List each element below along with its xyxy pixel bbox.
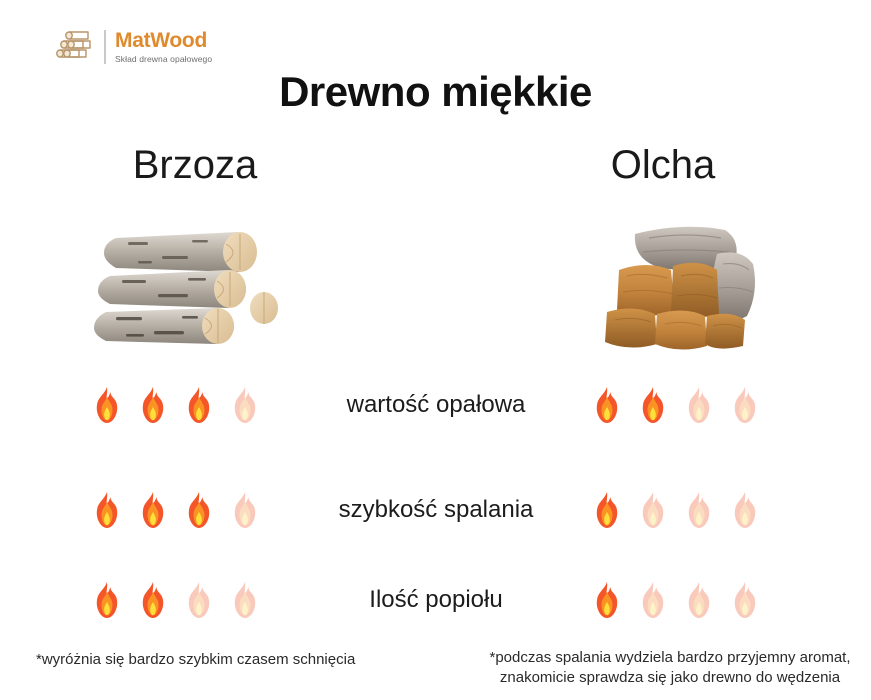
flame-icon-filled <box>592 386 622 424</box>
column-heading-brzoza: Brzoza <box>45 143 345 188</box>
logo-wordmark: MatWood Skład drewna opałowego <box>115 30 212 63</box>
footnote-brzoza: *wyróżnia się bardzo szybkim czasem schn… <box>36 650 436 670</box>
flame-icon-empty <box>230 491 260 529</box>
brand-logo: MatWood Skład drewna opałowego <box>55 28 212 66</box>
infographic-page: MatWood Skład drewna opałowego Drewno mi… <box>0 0 871 700</box>
flame-icon-empty <box>230 581 260 619</box>
flame-icon-filled <box>92 491 122 529</box>
rating-olcha-2 <box>592 491 760 529</box>
criterion-label-3: Ilość popiołu <box>286 586 586 614</box>
page-title: Drewno miękkie <box>0 68 871 116</box>
flame-icon-filled <box>184 386 214 424</box>
flame-icon-empty <box>638 491 668 529</box>
brand-tagline: Skład drewna opałowego <box>115 54 212 64</box>
flame-icon-empty <box>730 491 760 529</box>
flame-icon-empty <box>730 386 760 424</box>
rating-olcha-3 <box>592 581 760 619</box>
brand-name: MatWood <box>115 30 212 52</box>
flame-icon-filled <box>638 386 668 424</box>
footnote-olcha: *podczas spalania wydziela bardzo przyje… <box>480 648 860 689</box>
flame-icon-empty <box>684 581 714 619</box>
flame-icon-empty <box>684 386 714 424</box>
flame-icon-filled <box>592 581 622 619</box>
flame-icon-filled <box>138 386 168 424</box>
flame-icon-filled <box>184 491 214 529</box>
rating-brzoza-1 <box>92 386 260 424</box>
flame-icon-empty <box>638 581 668 619</box>
rating-row-3: Ilość popiołu <box>0 576 871 624</box>
logo-divider <box>104 30 106 64</box>
flame-icon-filled <box>92 386 122 424</box>
rating-row-2: szybkość spalania <box>0 486 871 534</box>
flame-icon-filled <box>92 581 122 619</box>
rating-brzoza-2 <box>92 491 260 529</box>
alder-logs-photo <box>583 216 783 356</box>
rating-row-1: wartość opałowa <box>0 381 871 429</box>
flame-icon-empty <box>184 581 214 619</box>
stacked-logs-icon <box>55 28 95 66</box>
flame-icon-empty <box>684 491 714 529</box>
criterion-label-1: wartość opałowa <box>286 391 586 419</box>
column-heading-olcha: Olcha <box>513 143 813 188</box>
rating-brzoza-3 <box>92 581 260 619</box>
criterion-label-2: szybkość spalania <box>286 496 586 524</box>
rating-olcha-1 <box>592 386 760 424</box>
flame-icon-empty <box>230 386 260 424</box>
flame-icon-filled <box>138 491 168 529</box>
flame-icon-filled <box>138 581 168 619</box>
flame-icon-empty <box>730 581 760 619</box>
birch-logs-photo <box>88 216 288 356</box>
flame-icon-filled <box>592 491 622 529</box>
